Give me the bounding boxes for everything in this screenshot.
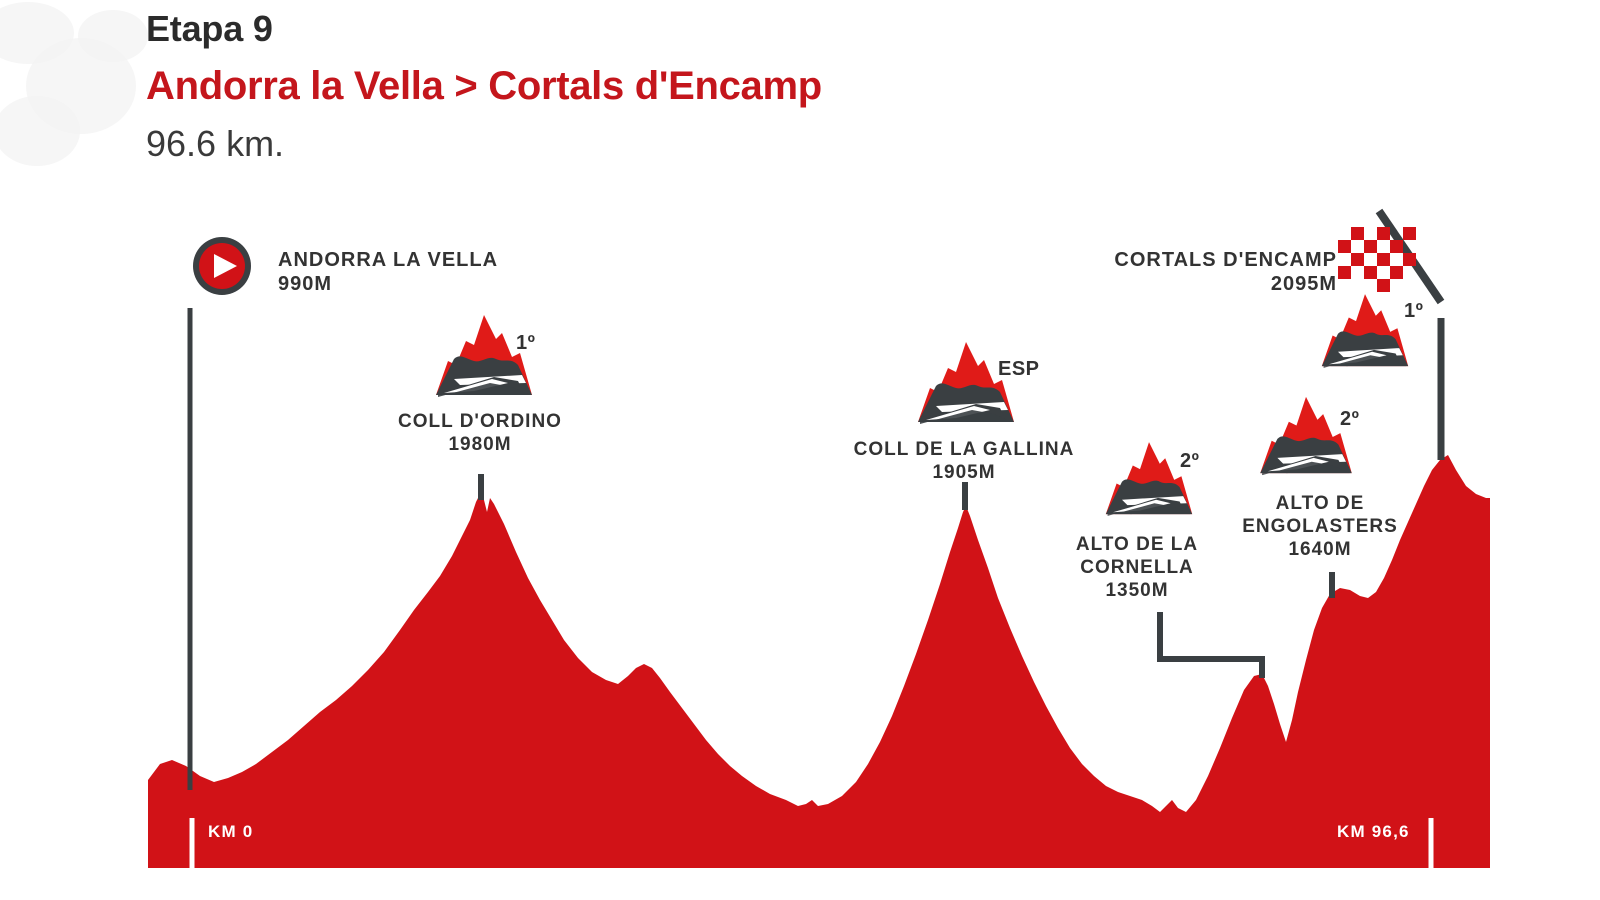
km-start-label: KM 0 [208, 822, 253, 842]
climb-category-alto-de-engolasters: 2º [1340, 408, 1359, 431]
climb-category-coll-dordino: 1º [516, 332, 535, 355]
climb-elevation: 1640M [1242, 538, 1398, 561]
start-elevation: 990M [278, 272, 498, 296]
climb-name: COLL DE LA GALLINA [854, 438, 1075, 461]
climb-elevation: 1350M [1076, 579, 1198, 602]
climb-category-coll-de-la-gallina: ESP [998, 358, 1040, 381]
finish-category: 1º [1404, 300, 1423, 323]
climb-elevation: 1905M [854, 461, 1075, 484]
stage-profile-page: Etapa 9 Andorra la Vella > Cortals d'Enc… [0, 0, 1600, 900]
climb-name-line2: ENGOLASTERS [1242, 515, 1398, 538]
climb-category-alto-de-la-cornella: 2º [1180, 450, 1199, 473]
climb-name-line2: CORNELLA [1076, 556, 1198, 579]
climb-elevation: 1980M [398, 433, 562, 456]
finish-elevation: 2095M [1114, 272, 1337, 296]
climb-label-coll-dordino: COLL D'ORDINO 1980M [398, 410, 562, 456]
climb-name-line1: ALTO DE LA [1076, 533, 1198, 556]
summit-connector-cornella [1160, 612, 1262, 678]
climb-name: COLL D'ORDINO [398, 410, 562, 433]
finish-name: CORTALS D'ENCAMP [1114, 248, 1337, 272]
climb-name-line1: ALTO DE [1242, 492, 1398, 515]
mountain-icon-alto-de-engolasters [1260, 397, 1352, 475]
start-name: ANDORRA LA VELLA [278, 248, 498, 272]
climb-label-alto-de-engolasters: ALTO DE ENGOLASTERS 1640M [1242, 492, 1398, 562]
mountain-icon-coll-de-la-gallina [918, 342, 1014, 424]
finish-label: CORTALS D'ENCAMP 2095M [1114, 248, 1337, 297]
elevation-profile-chart [0, 0, 1600, 900]
checkered-flag-icon [1338, 227, 1416, 292]
climb-label-alto-de-la-cornella: ALTO DE LA CORNELLA 1350M [1076, 533, 1198, 603]
start-label: ANDORRA LA VELLA 990M [278, 248, 498, 297]
km-end-label: KM 96,6 [1337, 822, 1410, 842]
play-circle-icon [193, 237, 251, 295]
mountain-icon-coll-dordino [436, 315, 532, 397]
mountain-icon-cortals-dencamp [1322, 294, 1408, 368]
climb-label-coll-de-la-gallina: COLL DE LA GALLINA 1905M [854, 438, 1075, 484]
